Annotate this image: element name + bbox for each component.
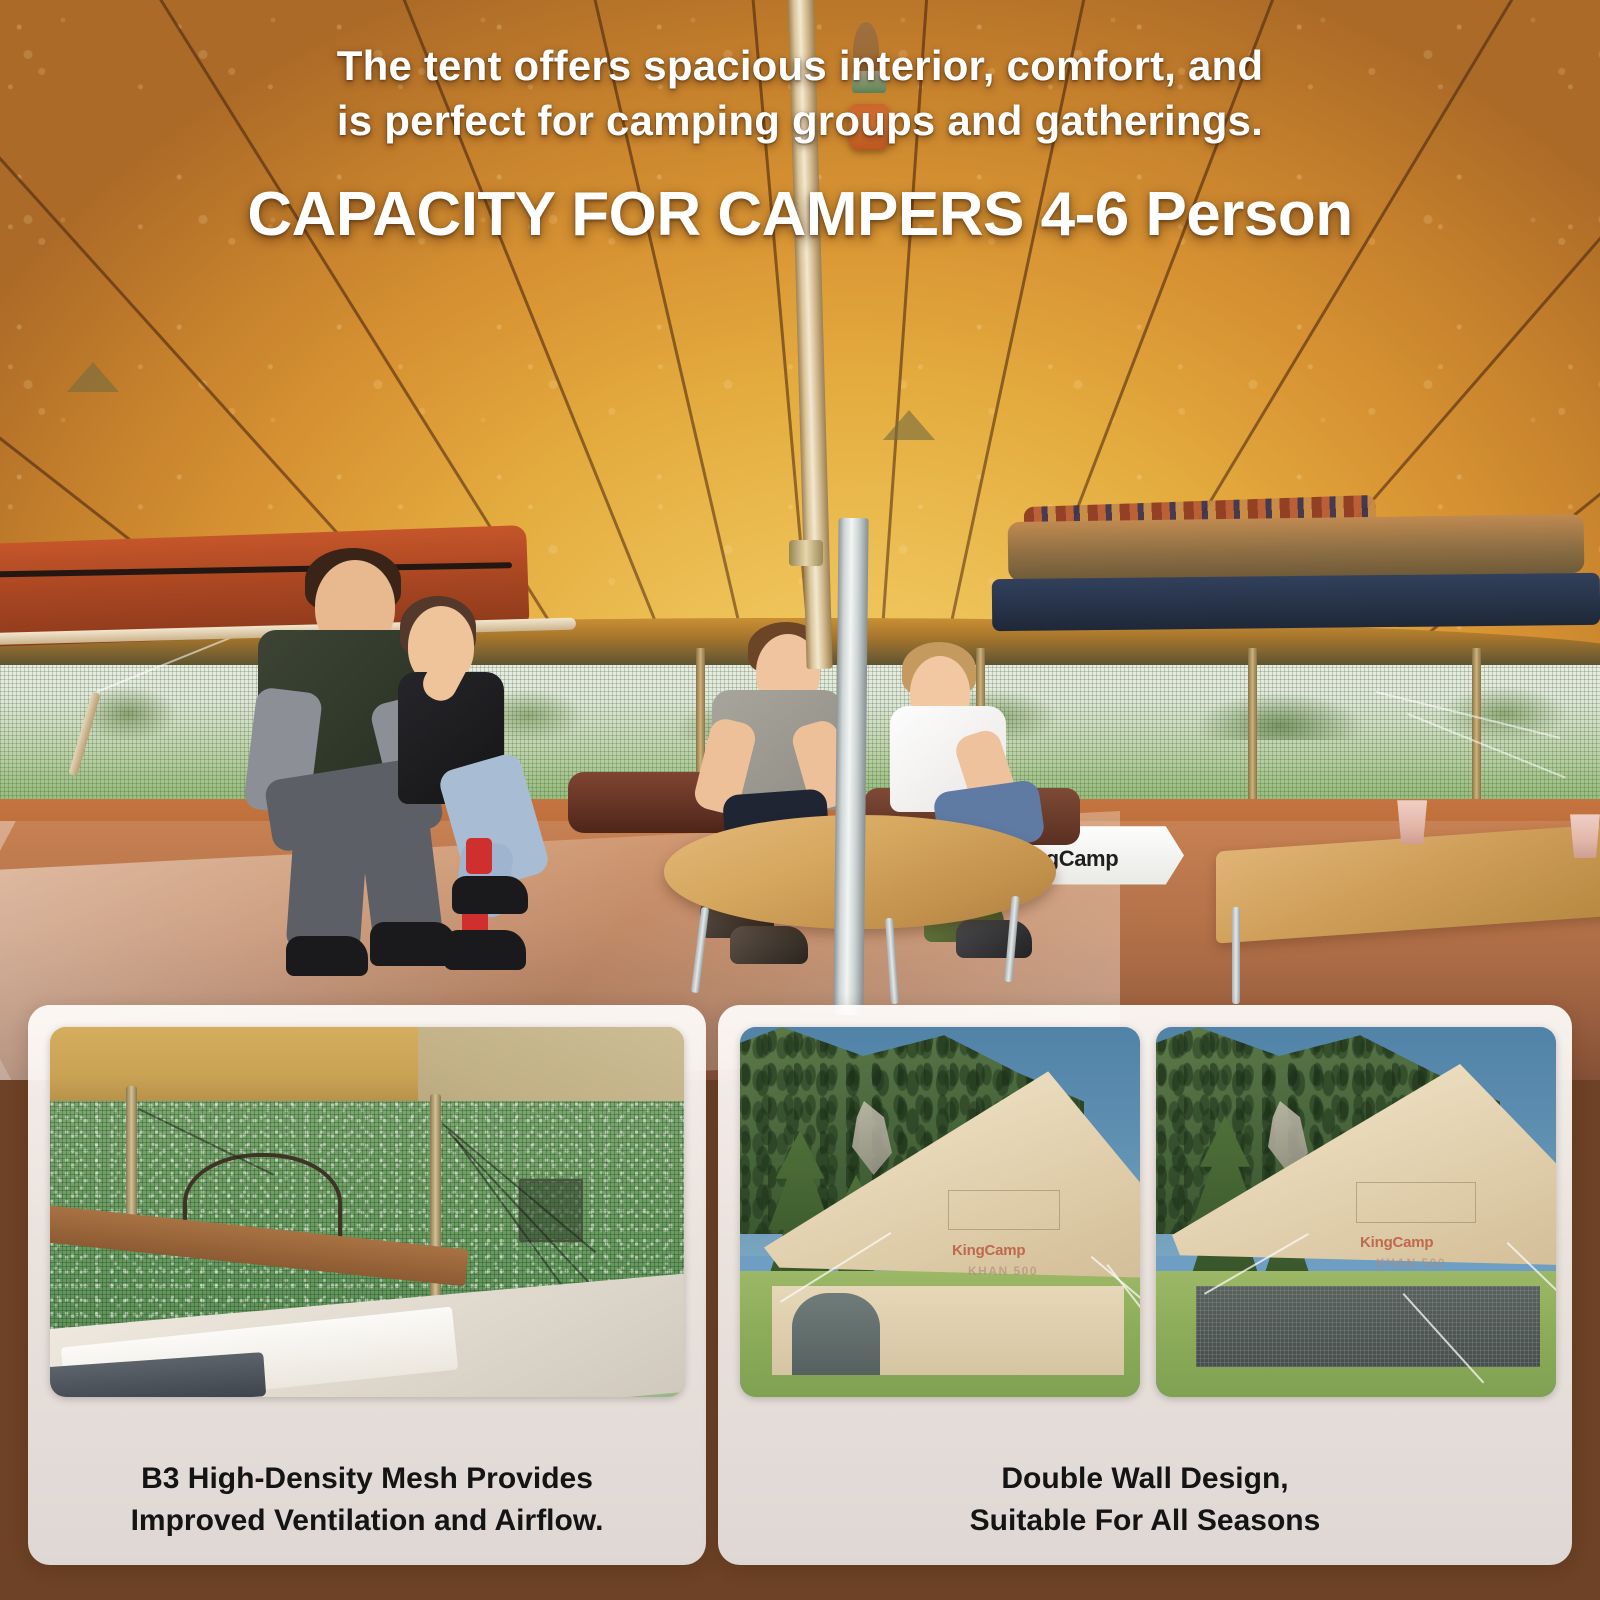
mesh-detail-photo: [50, 1027, 684, 1397]
table-leg: [1232, 907, 1240, 1004]
feature-cards: B3 High-Density Mesh Provides Improved V…: [0, 1005, 1600, 1600]
mesh-caption-line1: B3 High-Density Mesh Provides: [28, 1458, 706, 1501]
tent-center-pole-lower: [834, 518, 869, 1015]
mesh-card-caption: B3 High-Density Mesh Provides Improved V…: [28, 1458, 706, 1543]
kingcamp-brand-label: KingCamp: [1360, 1234, 1433, 1251]
sleeping-bag-right: [1008, 514, 1585, 581]
pole-joint: [789, 540, 823, 566]
sleeping-pad-right: [992, 572, 1600, 630]
feature-card-mesh: B3 High-Density Mesh Provides Improved V…: [28, 1005, 706, 1565]
hero-subtitle-line2: is perfect for camping groups and gather…: [0, 93, 1600, 148]
tent-vent-window: [1356, 1182, 1476, 1223]
canopy-vent-triangle-icon: [883, 410, 935, 440]
tent-model-label: KHAN 500: [968, 1264, 1038, 1278]
mesh-caption-line2: Improved Ventilation and Airflow.: [28, 1500, 706, 1543]
feature-card-double-wall: KingCamp KHAN 500 KingCamp KHAN 500: [718, 1005, 1572, 1565]
canopy-vent-triangle-icon: [67, 362, 119, 392]
double-wall-card-caption: Double Wall Design, Suitable For All Sea…: [718, 1458, 1572, 1543]
double-wall-caption-line2: Suitable For All Seasons: [718, 1500, 1572, 1543]
kingcamp-brand-label: KingCamp: [952, 1242, 1025, 1259]
tent-door-window: [792, 1293, 880, 1374]
tent-model-label: KHAN 500: [1376, 1256, 1446, 1270]
hero-subtitle: The tent offers spacious interior, comfo…: [0, 38, 1600, 149]
hero-photo-tent-interior: gCamp: [0, 0, 1600, 1080]
kingcamp-logo-text: gCamp: [1046, 846, 1119, 872]
infographic-root: gCamp: [0, 0, 1600, 1600]
tent-exterior-photo-mesh: KingCamp KHAN 500: [1156, 1027, 1556, 1397]
hero-subtitle-line1: The tent offers spacious interior, comfo…: [0, 38, 1600, 93]
tent-inner-mesh-wall: [1196, 1286, 1540, 1367]
double-wall-caption-line1: Double Wall Design,: [718, 1458, 1572, 1501]
tent-exterior-photo-closed: KingCamp KHAN 500: [740, 1027, 1140, 1397]
hero-headline: CAPACITY FOR CAMPERS 4-6 Person: [0, 182, 1600, 247]
tent-vent-window: [948, 1190, 1060, 1231]
